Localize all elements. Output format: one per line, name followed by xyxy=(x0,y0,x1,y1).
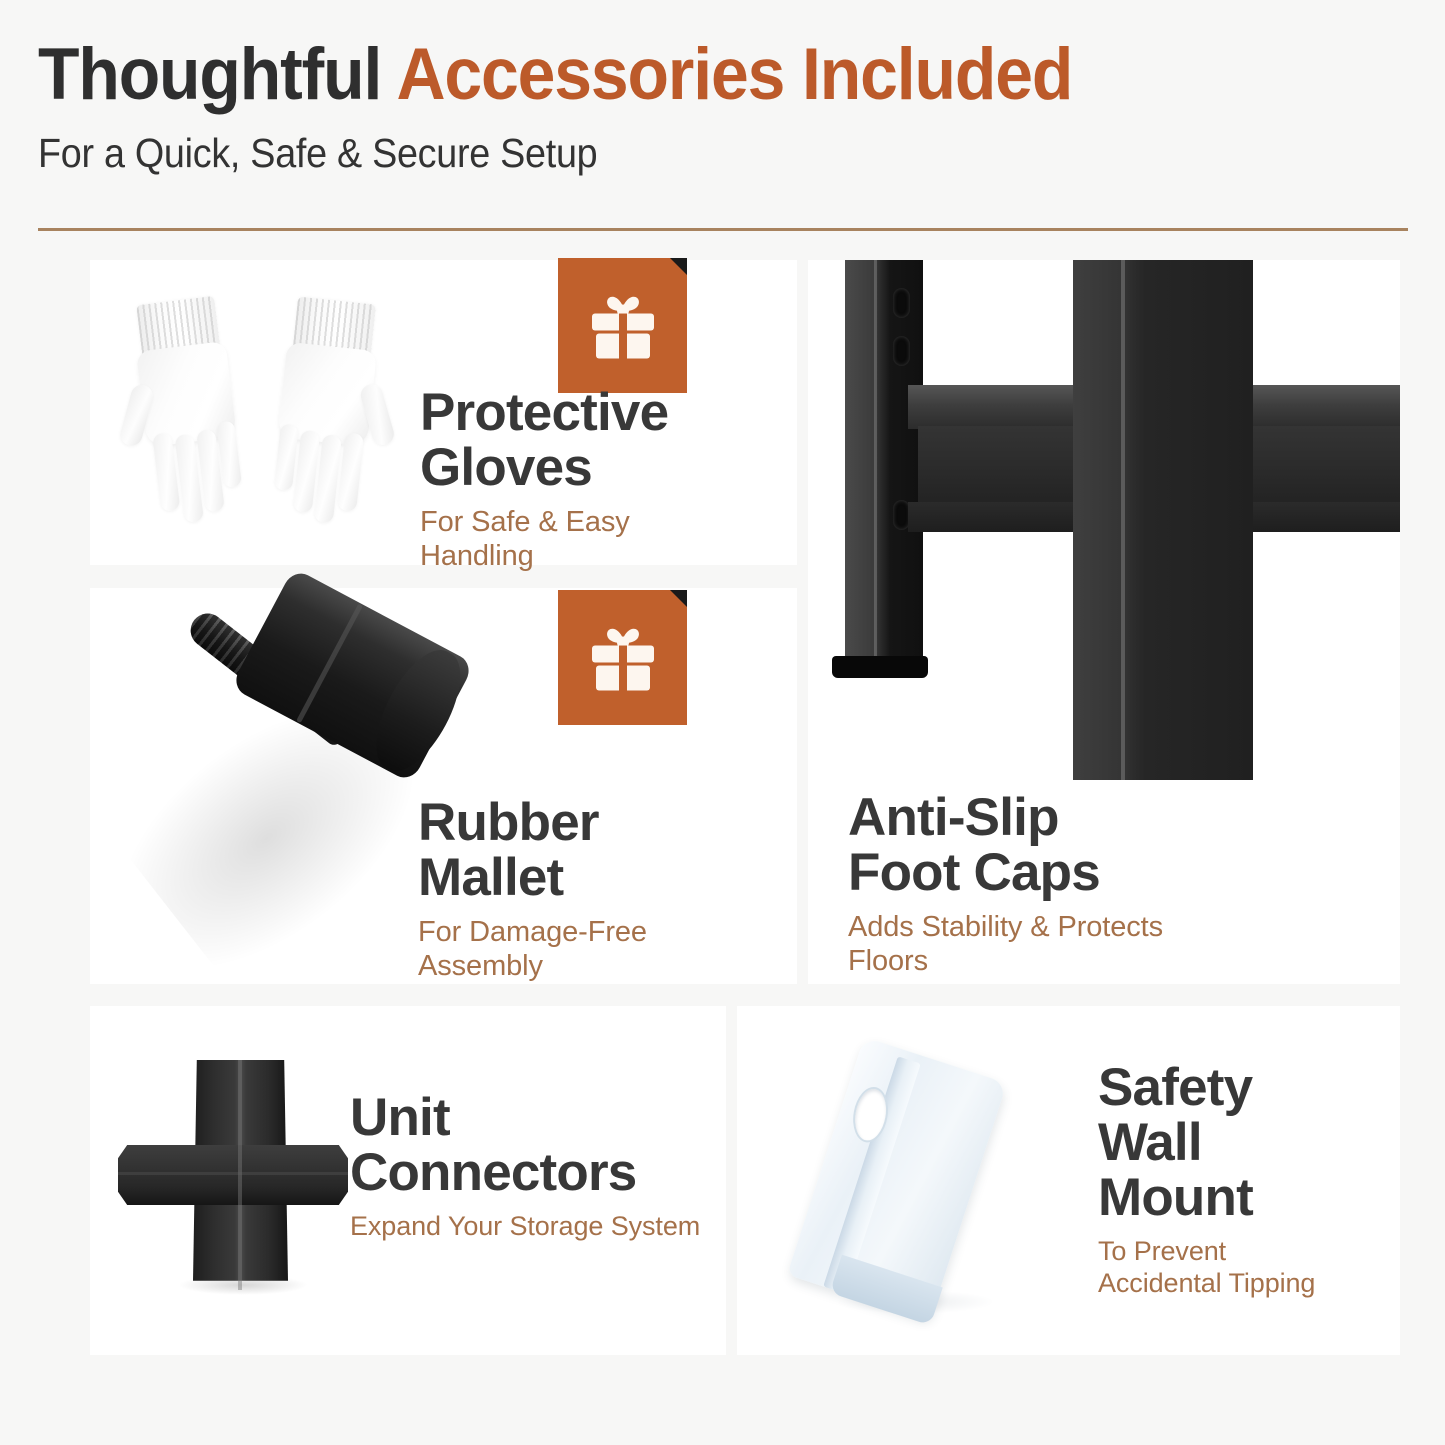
wallmount-title: Safety Wall Mount xyxy=(1098,1060,1398,1225)
glove-left xyxy=(110,293,265,537)
mallet-caption: For Damage-Free Assembly xyxy=(418,916,763,984)
footcaps-text-block: Anti-Slip Foot Caps Adds Stability & Pro… xyxy=(848,790,1246,979)
wallmount-text-block: Safety Wall Mount To Prevent Accidental … xyxy=(1098,1060,1398,1299)
gloves-caption: For Safe & Easy Handling xyxy=(420,506,732,574)
front-leg-post xyxy=(1073,260,1253,780)
connectors-title: Unit Connectors xyxy=(350,1090,702,1200)
footcaps-title: Anti-Slip Foot Caps xyxy=(848,790,1246,900)
wallmount-caption: To Prevent Accidental Tipping xyxy=(1098,1236,1398,1299)
leg-slot xyxy=(893,288,910,318)
rear-leg-edge xyxy=(874,260,877,660)
connector-seam-horizontal xyxy=(118,1172,348,1175)
front-leg-highlight xyxy=(1121,260,1125,780)
gift-icon xyxy=(587,619,659,693)
wall-mount-image xyxy=(780,1040,1070,1330)
accessories-grid: Protective Gloves For Safe & Easy Handli… xyxy=(0,0,1445,1445)
badge-fold-corner xyxy=(670,590,687,607)
gift-badge xyxy=(558,590,687,725)
shelf-legs-image xyxy=(808,260,1400,780)
gloves-text-block: Protective Gloves For Safe & Easy Handli… xyxy=(420,385,732,574)
badge-fold-corner xyxy=(670,258,687,275)
rear-foot-cap xyxy=(832,656,928,678)
connectors-text-block: Unit Connectors Expand Your Storage Syst… xyxy=(350,1090,702,1243)
footcaps-caption: Adds Stability & Protects Floors xyxy=(848,911,1246,979)
gloves-image xyxy=(120,300,410,530)
leg-slot xyxy=(893,336,910,366)
unit-connector-image xyxy=(118,1060,348,1290)
gloves-title: Protective Gloves xyxy=(420,385,732,495)
gift-badge xyxy=(558,258,687,393)
connector-seam-vertical xyxy=(238,1060,242,1290)
gift-icon xyxy=(587,287,659,361)
glove-finger xyxy=(337,432,364,512)
rear-leg-post xyxy=(845,260,923,660)
connector-horizontal-arm xyxy=(118,1145,348,1205)
mallet-text-block: Rubber Mallet For Damage-Free Assembly xyxy=(418,795,763,984)
connectors-caption: Expand Your Storage System xyxy=(350,1211,702,1243)
glove-right xyxy=(248,294,399,536)
mallet-title: Rubber Mallet xyxy=(418,795,763,905)
wall-mount-bracket xyxy=(787,1037,1007,1321)
